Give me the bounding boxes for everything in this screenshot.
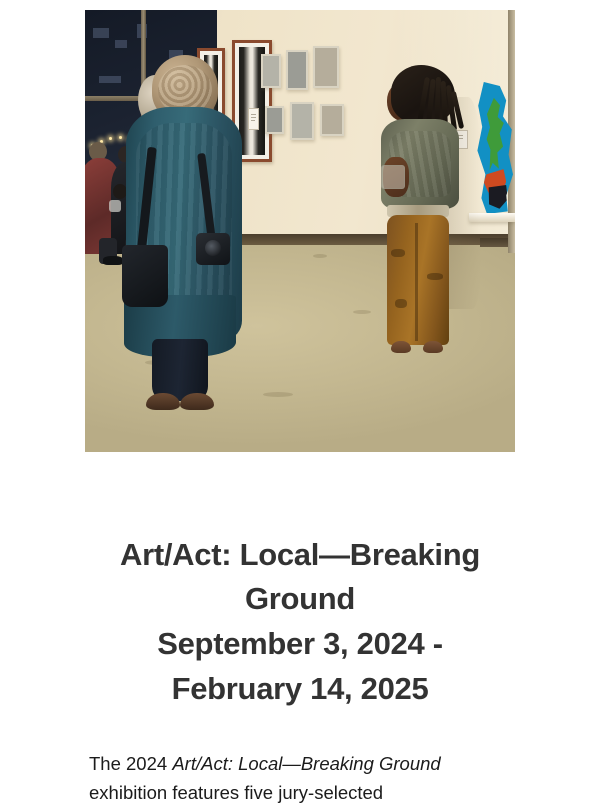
sandal [423,341,443,353]
title-line-1: Art/Act: Local—Breaking [85,533,515,578]
woman-in-ochre-pants [375,65,470,365]
window-building-light [93,28,109,38]
title-line-2: Ground [85,577,515,622]
sandal [391,341,411,353]
sculpture-green-figure [486,98,505,172]
handbag [122,245,168,307]
paper-work[interactable] [265,106,284,134]
floor-mark [263,392,293,397]
camera [196,233,230,265]
ochre-pants [387,215,449,345]
paper-work[interactable] [313,46,339,88]
title-line-4: February 14, 2025 [85,667,515,712]
title-line-3: September 3, 2024 - [85,622,515,667]
description-segment-plain: The 2024 [89,753,172,774]
gallery-photo-scene [85,10,515,452]
description-segment-plain-2: exhibition features five jury-selected [89,782,383,803]
floor-mark [353,310,371,314]
brown-shoe [180,393,214,410]
wall-label-card [248,108,259,130]
exhibition-description: The 2024 Art/Act: Local—Breaking Ground … [89,749,515,808]
paper-work[interactable] [290,102,314,140]
page-root: Art/Act: Local—Breaking Ground September… [0,0,600,799]
drink-cup [381,165,405,189]
hero-image[interactable] [85,10,515,452]
window-building-light [115,40,127,48]
sculpture-black-shape [487,185,508,209]
paper-work[interactable] [261,54,281,88]
description-segment-italic: Art/Act: Local—Breaking Ground [172,753,440,774]
page-title: Art/Act: Local—Breaking Ground September… [85,533,515,712]
paper-work[interactable] [286,50,308,90]
floor-mark [313,254,327,258]
brown-shoe [146,393,180,410]
dark-trousers [152,339,208,401]
paper-work[interactable] [320,104,344,136]
woman-in-teal-coat [110,55,242,415]
